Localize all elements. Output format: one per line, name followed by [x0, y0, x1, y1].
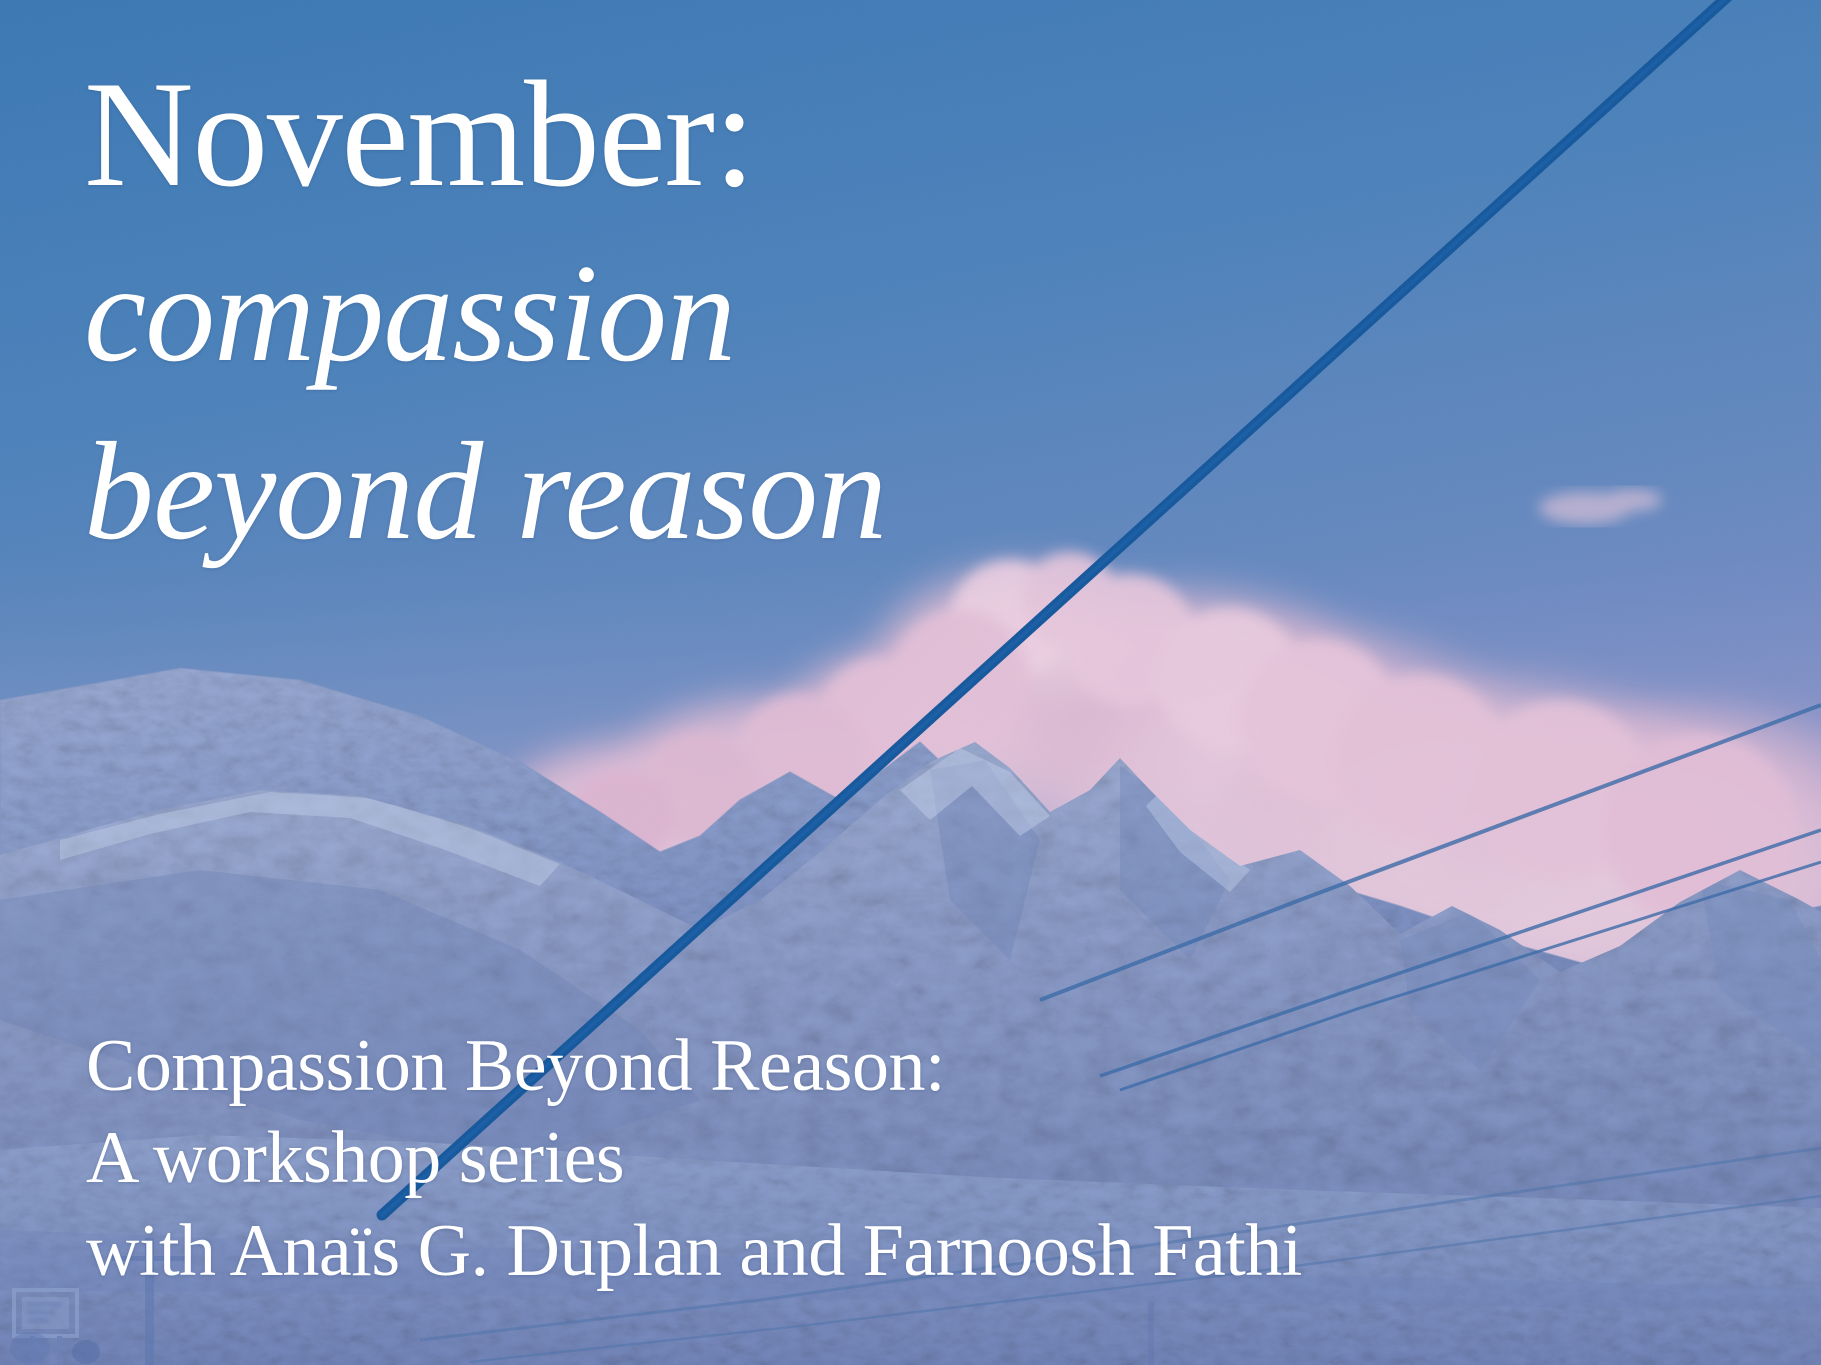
credits-line-facilitators: with Anaïs G. Duplan and Farnoosh Fathi: [86, 1205, 1302, 1298]
credits-line-format: A workshop series: [86, 1112, 1302, 1205]
poster-credits-block: Compassion Beyond Reason: A workshop ser…: [86, 1020, 1302, 1298]
title-line-beyond-reason: beyond reason: [84, 422, 886, 562]
credits-line-series-title: Compassion Beyond Reason:: [86, 1020, 1302, 1113]
poster-title-block: November: compassion beyond reason: [84, 58, 886, 562]
poster-image: November: compassion beyond reason Compa…: [0, 0, 1821, 1365]
title-line-compassion: compassion: [84, 244, 886, 384]
title-line-month: November:: [84, 58, 886, 210]
